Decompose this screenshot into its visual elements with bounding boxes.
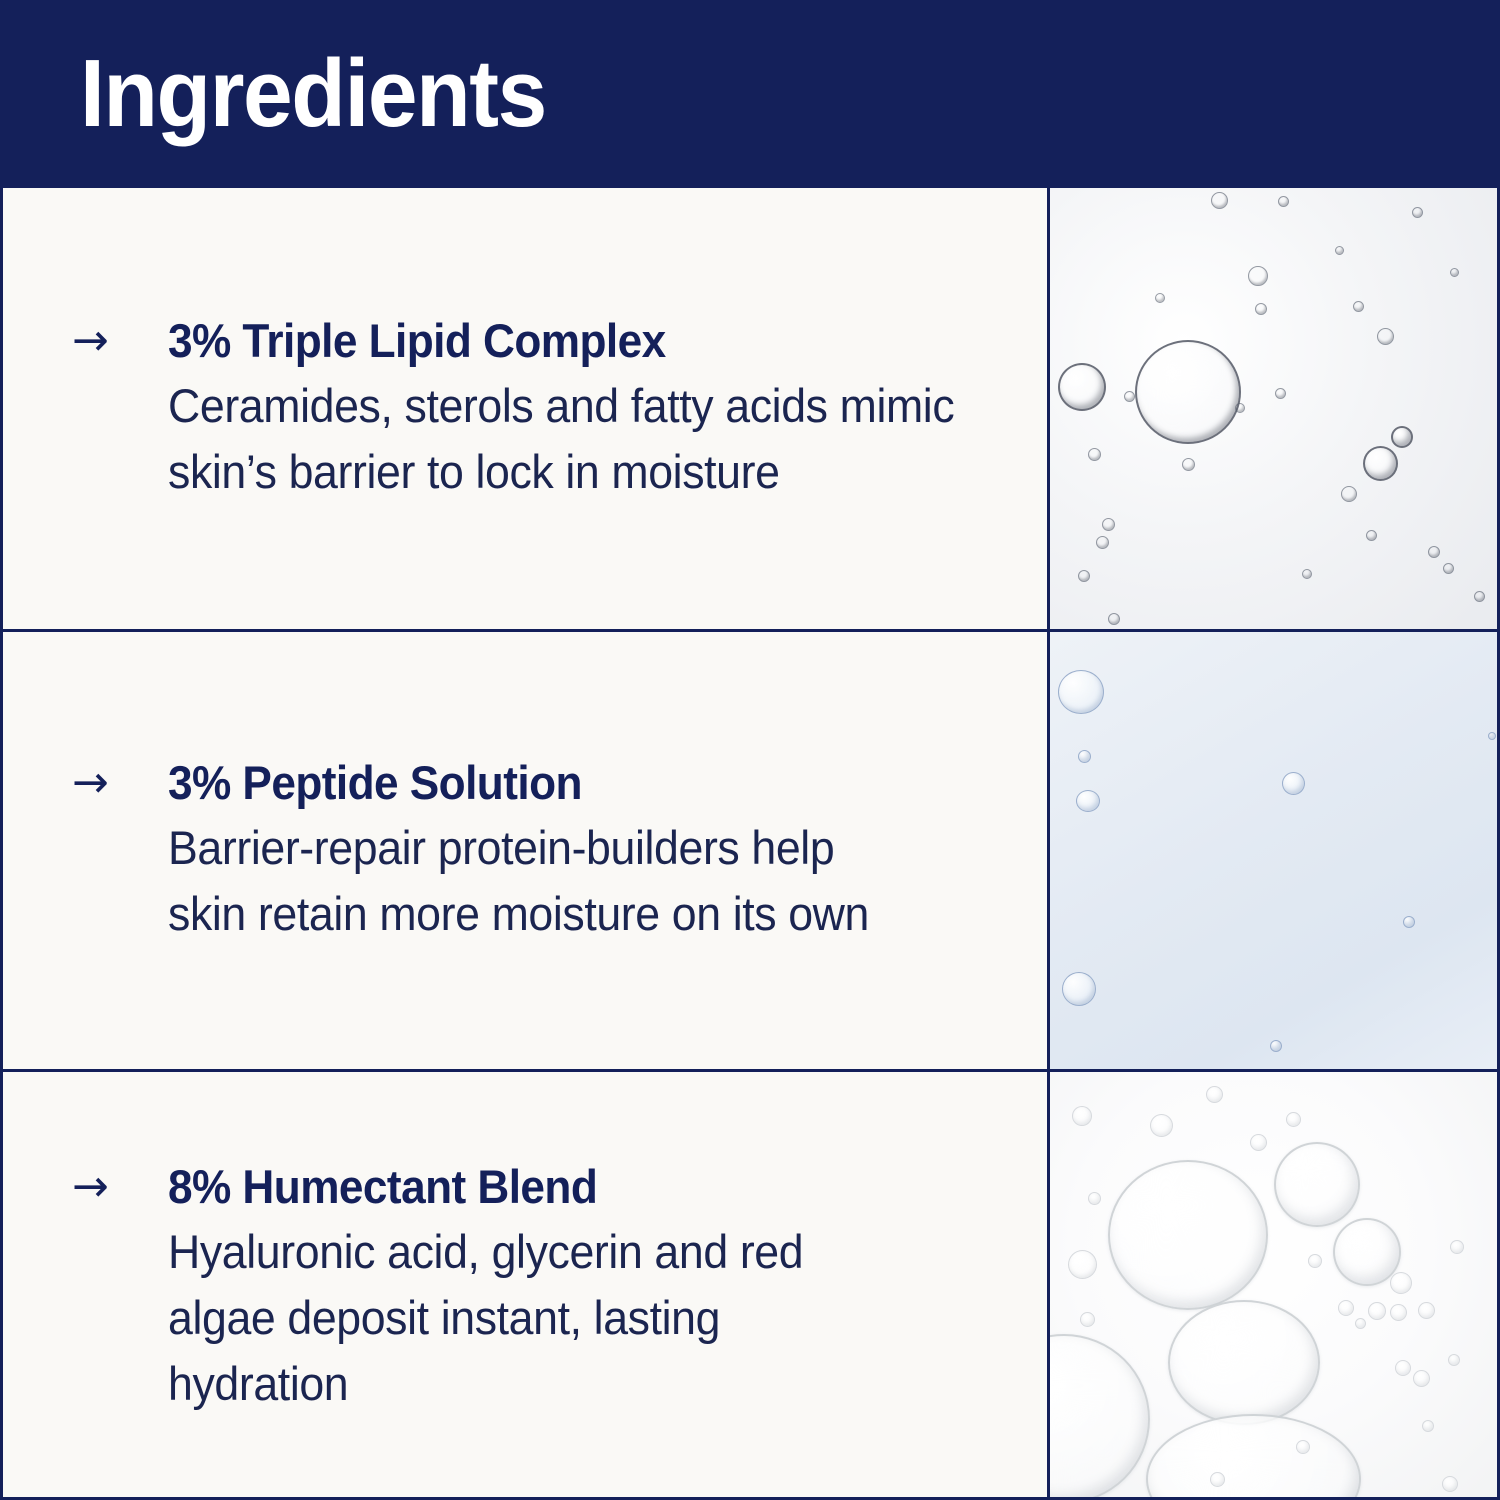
- bubble: [1274, 1142, 1360, 1227]
- ingredient-row: → 8% Humectant Blend Hyaluronic acid, gl…: [0, 1069, 1500, 1500]
- bubble: [1308, 1254, 1322, 1268]
- bubble: [1422, 1420, 1434, 1432]
- bubble: [1390, 1272, 1412, 1294]
- bubble: [1168, 1300, 1320, 1425]
- bubble: [1335, 246, 1344, 255]
- bubble: [1286, 1112, 1301, 1127]
- bubble: [1072, 1106, 1092, 1126]
- ingredient-row: → 3% Peptide Solution Barrier-repair pro…: [0, 629, 1500, 1069]
- bubble: [1135, 340, 1241, 444]
- bubble: [1366, 530, 1377, 541]
- bubble: [1395, 1360, 1411, 1376]
- ingredient-text-cell: → 8% Humectant Blend Hyaluronic acid, gl…: [0, 1072, 1047, 1500]
- bubble: [1302, 569, 1312, 579]
- ingredient-image-cell: [1047, 188, 1497, 629]
- bubble: [1078, 570, 1090, 582]
- bubble: [1377, 328, 1394, 345]
- arrow-right-icon: →: [72, 1159, 168, 1215]
- ingredient-title: 3% Triple Lipid Complex: [168, 313, 666, 369]
- bubble: [1088, 448, 1101, 461]
- bubble: [1450, 268, 1459, 277]
- ingredients-infographic: Ingredients → 3% Triple Lipid Complex Ce…: [0, 0, 1500, 1500]
- bubble: [1182, 458, 1195, 471]
- bubble: [1391, 426, 1413, 448]
- bubble: [1062, 972, 1096, 1006]
- bubble: [1428, 546, 1440, 558]
- ingredients-list: → 3% Triple Lipid Complex Ceramides, ste…: [0, 188, 1500, 1500]
- bubble: [1150, 1114, 1173, 1137]
- bubble: [1108, 613, 1120, 625]
- bubble: [1235, 403, 1245, 413]
- bubble: [1210, 1472, 1225, 1487]
- bubble: [1390, 1304, 1407, 1321]
- arrow-right-icon: →: [72, 313, 168, 369]
- ingredient-heading: → 8% Humectant Blend: [72, 1159, 1007, 1215]
- bubble: [1146, 1414, 1361, 1500]
- bubble: [1124, 391, 1135, 402]
- ingredient-title: 8% Humectant Blend: [168, 1159, 597, 1215]
- bubble: [1442, 1476, 1458, 1492]
- ingredient-image-cell: [1047, 632, 1497, 1069]
- bubble: [1413, 1370, 1430, 1387]
- page-title: Ingredients: [80, 46, 546, 142]
- bubble: [1338, 1300, 1354, 1316]
- bubble: [1474, 591, 1485, 602]
- page-header: Ingredients: [0, 0, 1500, 188]
- bubble: [1088, 1192, 1101, 1205]
- bubble: [1211, 192, 1228, 209]
- ingredient-row: → 3% Triple Lipid Complex Ceramides, ste…: [0, 188, 1500, 629]
- bubble: [1248, 266, 1268, 286]
- bubble: [1363, 446, 1398, 481]
- serum-texture-image-lipid: [1050, 188, 1497, 629]
- bubble: [1076, 790, 1100, 812]
- bubble: [1250, 1134, 1267, 1151]
- bubble: [1488, 732, 1496, 740]
- ingredient-description: Ceramides, sterols and fatty acids mimic…: [168, 373, 957, 505]
- ingredient-heading: → 3% Triple Lipid Complex: [72, 313, 1007, 369]
- ingredient-description: Barrier-repair protein-builders help ski…: [168, 815, 890, 947]
- bubble: [1296, 1440, 1310, 1454]
- bubble: [1047, 1334, 1150, 1500]
- bubble: [1403, 916, 1415, 928]
- bubble: [1108, 1160, 1268, 1310]
- serum-texture-image-humectant: [1050, 1072, 1497, 1500]
- bubble: [1353, 301, 1364, 312]
- bubble: [1058, 363, 1106, 411]
- bubble: [1333, 1218, 1401, 1286]
- bubble: [1270, 1040, 1282, 1052]
- bubble: [1096, 536, 1109, 549]
- bubble: [1275, 388, 1286, 399]
- bubble: [1255, 303, 1267, 315]
- bubble: [1341, 486, 1357, 502]
- ingredient-text-cell: → 3% Triple Lipid Complex Ceramides, ste…: [0, 188, 1047, 629]
- bubble: [1355, 1318, 1366, 1329]
- bubble: [1058, 670, 1104, 714]
- ingredient-text-cell: → 3% Peptide Solution Barrier-repair pro…: [0, 632, 1047, 1069]
- bubble: [1443, 563, 1454, 574]
- bubble: [1080, 1312, 1095, 1327]
- bubble: [1412, 207, 1423, 218]
- bubble: [1448, 1354, 1460, 1366]
- bubble: [1102, 518, 1115, 531]
- ingredient-heading: → 3% Peptide Solution: [72, 755, 1007, 811]
- bubble: [1068, 1250, 1097, 1279]
- bubble: [1418, 1302, 1435, 1319]
- bubble: [1206, 1086, 1223, 1103]
- ingredient-description: Hyaluronic acid, glycerin and red algae …: [168, 1219, 890, 1417]
- serum-texture-image-peptide: [1050, 632, 1497, 1069]
- bubble: [1450, 1240, 1464, 1254]
- bubble: [1078, 750, 1091, 763]
- ingredient-title: 3% Peptide Solution: [168, 755, 582, 811]
- bubble: [1282, 772, 1305, 795]
- arrow-right-icon: →: [72, 755, 168, 811]
- bubble: [1155, 293, 1165, 303]
- bubble: [1368, 1302, 1386, 1320]
- bubble: [1278, 196, 1289, 207]
- ingredient-image-cell: [1047, 1072, 1497, 1500]
